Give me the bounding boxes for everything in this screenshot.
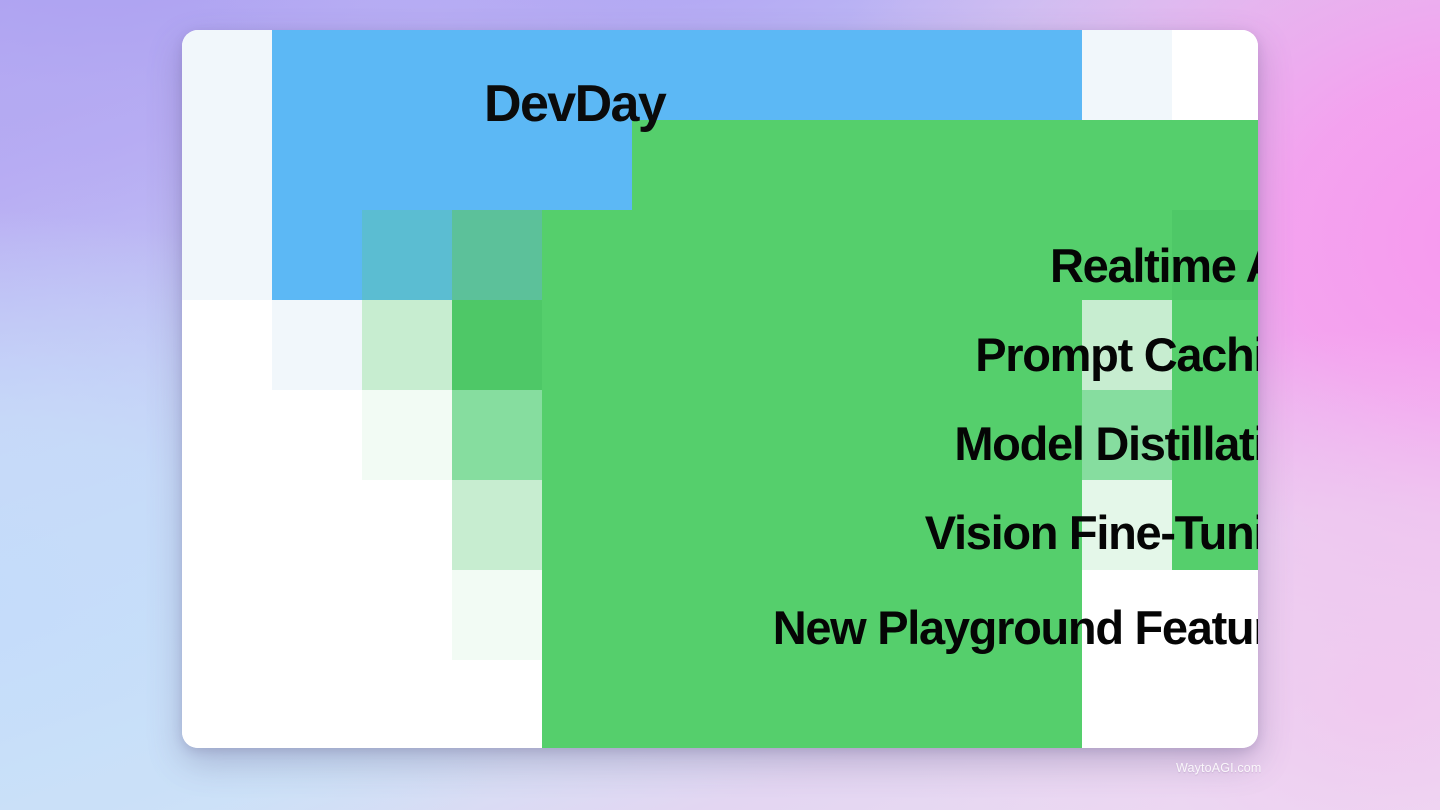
mosaic-tile — [542, 660, 632, 748]
mosaic-tile — [722, 120, 812, 210]
mosaic-tile — [632, 300, 722, 390]
mosaic-tile — [632, 480, 722, 570]
feature-item: Vision Fine-Tuning — [742, 509, 1258, 556]
mosaic-tile — [182, 570, 272, 660]
mosaic-tile — [182, 120, 272, 210]
mosaic-tile — [542, 300, 632, 390]
mosaic-tile — [722, 660, 812, 748]
mosaic-tile — [722, 30, 812, 120]
mosaic-tile — [632, 390, 722, 480]
mosaic-tile — [452, 120, 542, 210]
mosaic-tile — [1172, 120, 1258, 210]
mosaic-tile — [272, 300, 362, 390]
mosaic-tile — [362, 30, 452, 120]
mosaic-tile — [542, 390, 632, 480]
mosaic-tile — [362, 390, 452, 480]
mosaic-tile — [182, 300, 272, 390]
mosaic-tile — [272, 120, 362, 210]
mosaic-tile — [632, 210, 722, 300]
mosaic-tile — [812, 120, 902, 210]
mosaic-tile — [272, 30, 362, 120]
mosaic-tile — [452, 480, 542, 570]
mosaic-tile — [542, 570, 632, 660]
mosaic-tile — [182, 390, 272, 480]
mosaic-tile — [542, 120, 632, 210]
mosaic-tile — [632, 570, 722, 660]
mosaic-tile — [902, 120, 992, 210]
mosaic-tile — [632, 660, 722, 748]
mosaic-tile — [182, 660, 272, 748]
mosaic-tile — [272, 660, 362, 748]
mosaic-tile — [452, 570, 542, 660]
mosaic-tile — [362, 570, 452, 660]
mosaic-tile — [272, 570, 362, 660]
mosaic-tile — [542, 480, 632, 570]
mosaic-tile — [1082, 120, 1172, 210]
mosaic-tile — [272, 210, 362, 300]
feature-list: Realtime APIPrompt CachingModel Distilla… — [742, 242, 1258, 658]
mosaic-tile — [452, 210, 542, 300]
feature-item: Prompt Caching — [742, 331, 1258, 378]
slide-canvas: DevDay Realtime APIPrompt CachingModel D… — [0, 0, 1440, 810]
watermark: WaytoAGI.com — [1176, 761, 1261, 775]
mosaic-tile — [272, 480, 362, 570]
mosaic-tile — [1082, 660, 1172, 748]
mosaic-tile — [362, 480, 452, 570]
mosaic-tile — [812, 30, 902, 120]
mosaic-tile — [362, 660, 452, 748]
mosaic-tile — [182, 210, 272, 300]
mosaic-tile — [362, 120, 452, 210]
page-title: DevDay — [484, 78, 665, 130]
feature-item: Realtime API — [742, 242, 1258, 289]
mosaic-tile — [182, 480, 272, 570]
mosaic-tile — [452, 390, 542, 480]
mosaic-tile — [902, 660, 992, 748]
mosaic-tile — [362, 210, 452, 300]
mosaic-tile — [632, 120, 722, 210]
mosaic-tile — [452, 300, 542, 390]
mosaic-tile — [1172, 660, 1258, 748]
mosaic-tile — [272, 390, 362, 480]
mosaic-tile — [992, 30, 1082, 120]
mosaic-tile — [452, 660, 542, 748]
mosaic-tile — [182, 30, 272, 120]
mosaic-tile — [992, 660, 1082, 748]
feature-item: Model Distillation — [742, 420, 1258, 467]
mosaic-tile — [992, 120, 1082, 210]
feature-item: New Playground Features — [742, 598, 1258, 658]
mosaic-tile — [542, 210, 632, 300]
slide-card: DevDay Realtime APIPrompt CachingModel D… — [182, 30, 1258, 748]
mosaic-tile — [902, 30, 992, 120]
mosaic-tile — [812, 660, 902, 748]
mosaic-tile — [1082, 30, 1172, 120]
mosaic-tile — [362, 300, 452, 390]
mosaic-tile — [1172, 30, 1258, 120]
